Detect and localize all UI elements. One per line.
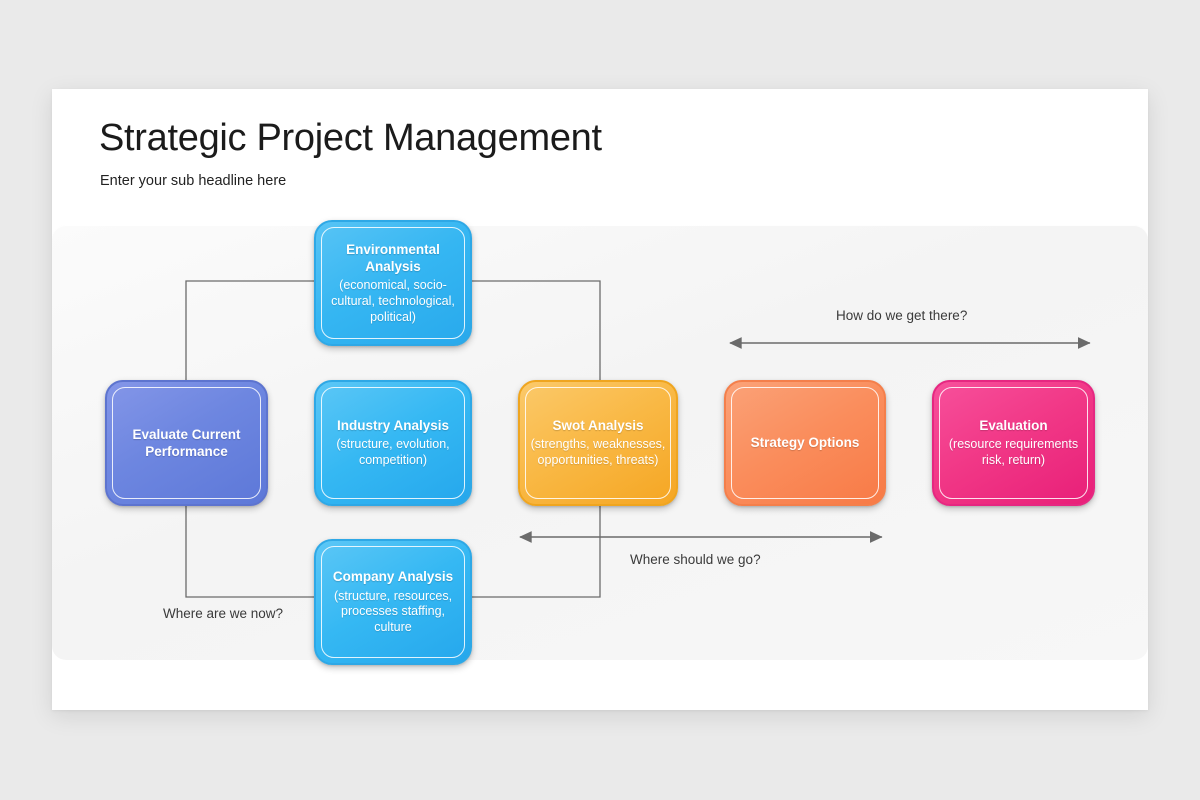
node-title: Strategy Options: [751, 434, 860, 451]
node-environmental-analysis[interactable]: Environmental Analysis (economical, soci…: [314, 220, 472, 346]
annotation-where-are-we-now: Where are we now?: [163, 606, 283, 621]
node-title: Evaluation: [979, 417, 1047, 434]
node-industry-analysis[interactable]: Industry Analysis (structure, evolution,…: [314, 380, 472, 506]
node-title: Environmental Analysis: [326, 241, 460, 276]
node-subtitle: (strengths, weaknesses, opportunities, t…: [530, 437, 666, 469]
page-title: Strategic Project Management: [99, 117, 602, 160]
slide-canvas: Strategic Project Management Enter your …: [52, 89, 1148, 710]
node-title: Company Analysis: [333, 568, 453, 585]
node-title: Industry Analysis: [337, 417, 449, 434]
node-subtitle: (structure, evolution, competition): [326, 437, 460, 469]
annotation-where-should-we-go: Where should we go?: [630, 552, 761, 567]
node-title: Swot Analysis: [552, 417, 643, 434]
node-title: Evaluate Current Performance: [117, 426, 256, 461]
node-subtitle: (structure, resources, processes staffin…: [326, 589, 460, 636]
node-subtitle: (economical, socio-cultural, technologic…: [326, 278, 460, 325]
node-strategy-options[interactable]: Strategy Options: [724, 380, 886, 506]
node-company-analysis[interactable]: Company Analysis (structure, resources, …: [314, 539, 472, 665]
page-subtitle: Enter your sub headline here: [100, 173, 286, 189]
node-evaluate-current-performance[interactable]: Evaluate Current Performance: [105, 380, 268, 506]
annotation-how-do-we-get-there: How do we get there?: [836, 308, 967, 323]
node-evaluation[interactable]: Evaluation (resource requirements risk, …: [932, 380, 1095, 506]
node-subtitle: (resource requirements risk, return): [944, 437, 1083, 469]
node-swot-analysis[interactable]: Swot Analysis (strengths, weaknesses, op…: [518, 380, 678, 506]
